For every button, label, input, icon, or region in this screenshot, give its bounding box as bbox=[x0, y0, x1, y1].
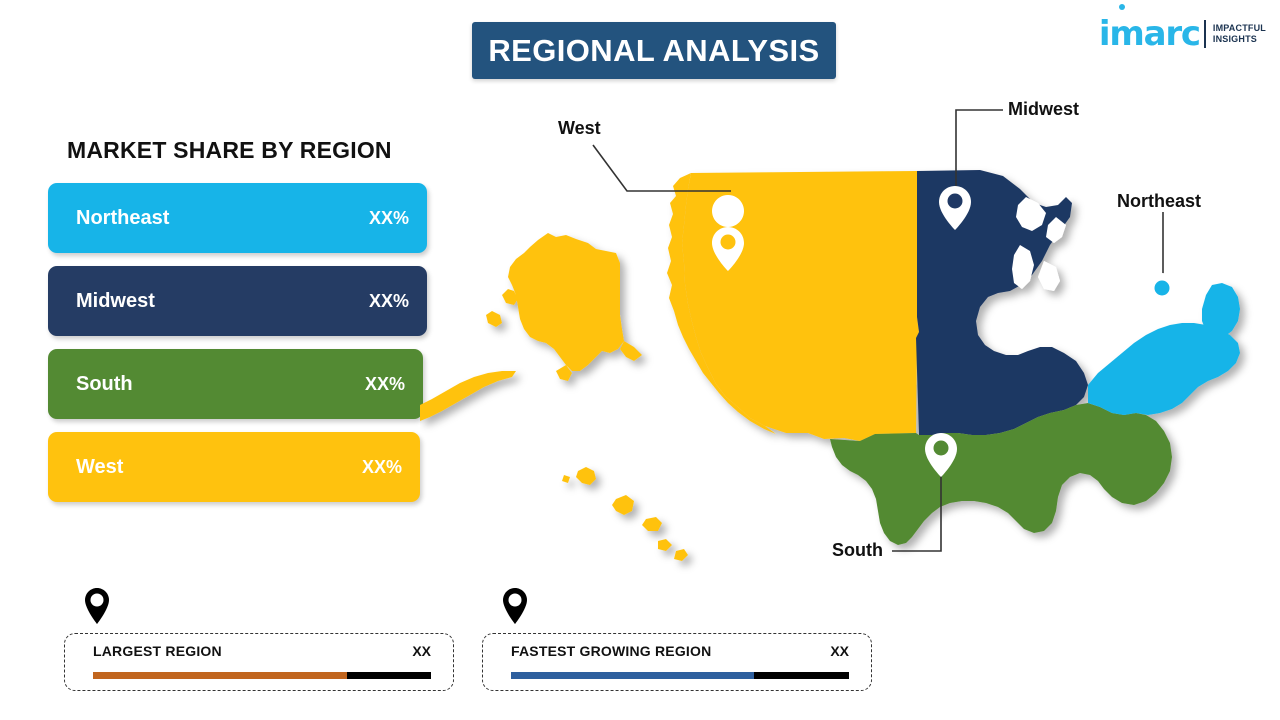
logo-divider bbox=[1204, 20, 1206, 48]
stat-block-fastest-growing-region: FASTEST GROWING REGION XX bbox=[482, 586, 872, 691]
map-svg bbox=[420, 85, 1280, 575]
callout-label-west: West bbox=[558, 118, 601, 139]
share-bar-label: Midwest bbox=[76, 290, 369, 313]
market-share-heading: MARKET SHARE BY REGION bbox=[67, 137, 392, 164]
share-bar-west[interactable]: West XX% bbox=[48, 432, 420, 502]
location-pin-icon bbox=[500, 586, 530, 626]
map-region-northeast-newengland bbox=[1202, 283, 1240, 337]
page-title-banner: REGIONAL ANALYSIS bbox=[472, 22, 836, 79]
stat-progress-fill bbox=[511, 672, 754, 679]
logo-dot-icon bbox=[1119, 4, 1125, 10]
logo-tagline-line2: INSIGHTS bbox=[1213, 34, 1257, 44]
share-bar-label: Northeast bbox=[76, 207, 369, 230]
share-bar-value: XX% bbox=[362, 457, 402, 478]
callout-label-south: South bbox=[832, 540, 883, 561]
stat-title: FASTEST GROWING REGION bbox=[511, 643, 711, 659]
location-pin-icon bbox=[82, 586, 112, 626]
us-regional-map: West Midwest Northeast South bbox=[420, 85, 1280, 575]
share-bar-south[interactable]: South XX% bbox=[48, 349, 423, 419]
callout-label-midwest: Midwest bbox=[1008, 99, 1079, 120]
share-bar-value: XX% bbox=[369, 291, 409, 312]
share-bar-northeast[interactable]: Northeast XX% bbox=[48, 183, 427, 253]
map-region-alaska[interactable] bbox=[420, 233, 642, 421]
stat-progress-track bbox=[511, 672, 849, 679]
stat-row: LARGEST REGION XX bbox=[93, 643, 431, 659]
share-bar-label: West bbox=[76, 456, 362, 479]
stat-progress-fill bbox=[93, 672, 347, 679]
logo-tagline-line1: IMPACTFUL bbox=[1213, 23, 1266, 33]
map-pin-northeast[interactable] bbox=[1146, 273, 1178, 317]
stat-box[interactable]: FASTEST GROWING REGION XX bbox=[482, 633, 872, 691]
stat-title: LARGEST REGION bbox=[93, 643, 222, 659]
imarc-logo: imarc IMPACTFUL INSIGHTS bbox=[1099, 12, 1266, 56]
market-share-bar-list: Northeast XX% Midwest XX% South XX% West… bbox=[48, 183, 448, 515]
stat-value: XX bbox=[830, 643, 849, 659]
map-region-hawaii[interactable] bbox=[562, 467, 688, 561]
stat-row: FASTEST GROWING REGION XX bbox=[511, 643, 849, 659]
share-bar-value: XX% bbox=[369, 208, 409, 229]
callout-label-northeast: Northeast bbox=[1117, 191, 1201, 212]
stat-progress-track bbox=[93, 672, 431, 679]
page-title: REGIONAL ANALYSIS bbox=[488, 33, 819, 69]
stat-box[interactable]: LARGEST REGION XX bbox=[64, 633, 454, 691]
logo-tagline: IMPACTFUL INSIGHTS bbox=[1213, 23, 1266, 46]
stat-block-largest-region: LARGEST REGION XX bbox=[64, 586, 454, 691]
stat-value: XX bbox=[412, 643, 431, 659]
share-bar-midwest[interactable]: Midwest XX% bbox=[48, 266, 427, 336]
share-bar-label: South bbox=[76, 373, 365, 396]
share-bar-value: XX% bbox=[365, 374, 405, 395]
logo-wordmark: imarc bbox=[1099, 17, 1200, 51]
